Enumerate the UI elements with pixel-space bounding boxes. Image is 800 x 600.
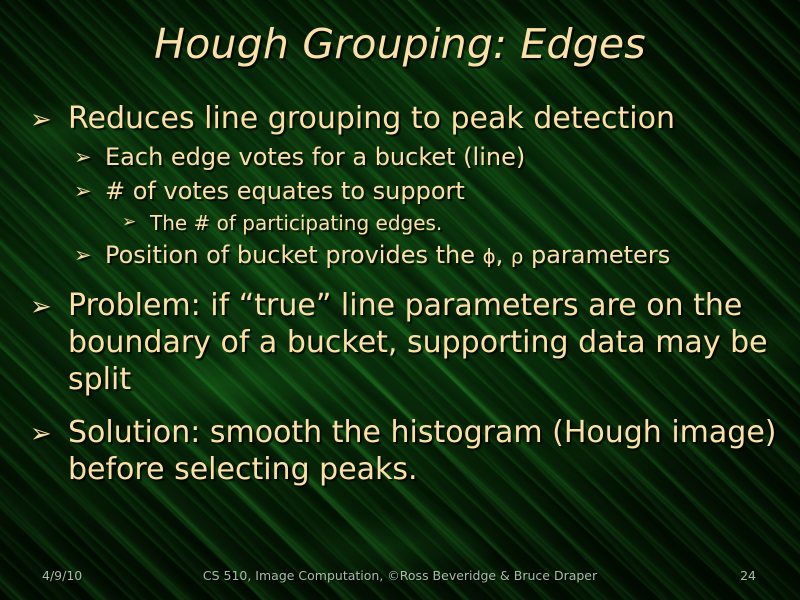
slide-content: Hough Grouping: Edges ➢ Reduces line gro… bbox=[0, 0, 800, 600]
bullet-item: ➢ # of votes equates to support bbox=[30, 175, 778, 207]
bullet-arrow-icon: ➢ bbox=[74, 141, 105, 168]
footer-attribution: CS 510, Image Computation, ©Ross Beverid… bbox=[0, 568, 800, 583]
bullet-label: # of votes equates to support bbox=[105, 175, 778, 207]
bullet-text-after: parameters bbox=[523, 241, 670, 269]
bullet-arrow-icon: ➢ bbox=[30, 287, 68, 320]
bullet-item: ➢ Solution: smooth the histogram (Hough … bbox=[30, 414, 778, 488]
bullet-label: The # of participating edges. bbox=[150, 209, 778, 237]
phi-symbol: ϕ bbox=[483, 245, 496, 268]
rho-symbol: ρ bbox=[511, 245, 524, 268]
bullet-arrow-icon: ➢ bbox=[30, 414, 68, 447]
bullet-arrow-icon: ➢ bbox=[30, 100, 68, 133]
bullet-text-before: Position of bucket provides the bbox=[105, 241, 483, 269]
bullet-label: Problem: if “true” line parameters are o… bbox=[68, 287, 778, 398]
bullet-item: ➢ Reduces line grouping to peak detectio… bbox=[30, 100, 778, 137]
bullet-item: ➢ The # of participating edges. bbox=[30, 209, 778, 237]
bullet-item: ➢ Position of bucket provides the ϕ, ρ p… bbox=[30, 239, 778, 273]
bullet-label: Reduces line grouping to peak detection bbox=[68, 100, 778, 137]
bullet-item: ➢ Problem: if “true” line parameters are… bbox=[30, 287, 778, 398]
bullet-label: Each edge votes for a bucket (line) bbox=[105, 141, 778, 173]
bullet-label: Position of bucket provides the ϕ, ρ par… bbox=[105, 239, 778, 273]
bullet-arrow-icon: ➢ bbox=[74, 175, 105, 202]
bullet-text-middle: , bbox=[496, 241, 511, 269]
slide-body: ➢ Reduces line grouping to peak detectio… bbox=[30, 100, 778, 492]
bullet-label: Solution: smooth the histogram (Hough im… bbox=[68, 414, 778, 488]
slide-title: Hough Grouping: Edges bbox=[0, 22, 800, 67]
footer-page-number: 24 bbox=[740, 568, 756, 583]
bullet-arrow-icon: ➢ bbox=[122, 209, 150, 231]
bullet-item: ➢ Each edge votes for a bucket (line) bbox=[30, 141, 778, 173]
slide-footer: 4/9/10 CS 510, Image Computation, ©Ross … bbox=[0, 568, 800, 588]
bullet-arrow-icon: ➢ bbox=[74, 239, 105, 266]
presentation-slide: Hough Grouping: Edges ➢ Reduces line gro… bbox=[0, 0, 800, 600]
